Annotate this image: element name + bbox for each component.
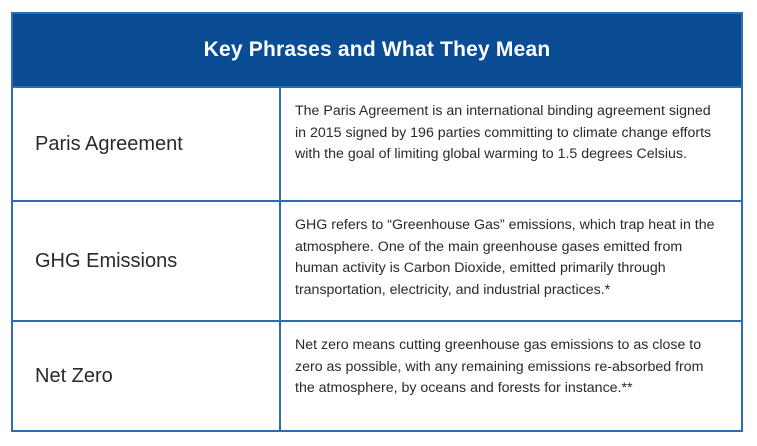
definition-text: GHG refers to “Greenhouse Gas” emissions… <box>295 215 719 301</box>
term-cell-paris-agreement: Paris Agreement <box>13 88 281 200</box>
term-cell-ghg-emissions: GHG Emissions <box>13 202 281 320</box>
table-row: Net Zero Net zero means cutting greenhou… <box>13 322 741 430</box>
definition-cell-paris-agreement: The Paris Agreement is an international … <box>281 88 741 200</box>
key-phrases-table: Key Phrases and What They Mean Paris Agr… <box>11 12 743 432</box>
definition-text: The Paris Agreement is an international … <box>295 101 719 166</box>
table-row: GHG Emissions GHG refers to “Greenhouse … <box>13 202 741 322</box>
definition-text: Net zero means cutting greenhouse gas em… <box>295 335 719 400</box>
term-label: Paris Agreement <box>35 132 183 157</box>
term-cell-net-zero: Net Zero <box>13 322 281 430</box>
table-header: Key Phrases and What They Mean <box>13 14 741 88</box>
term-label: GHG Emissions <box>35 249 177 274</box>
definition-cell-ghg-emissions: GHG refers to “Greenhouse Gas” emissions… <box>281 202 741 320</box>
definition-cell-net-zero: Net zero means cutting greenhouse gas em… <box>281 322 741 430</box>
table-title: Key Phrases and What They Mean <box>204 37 551 62</box>
table-row: Paris Agreement The Paris Agreement is a… <box>13 88 741 202</box>
term-label: Net Zero <box>35 364 113 389</box>
